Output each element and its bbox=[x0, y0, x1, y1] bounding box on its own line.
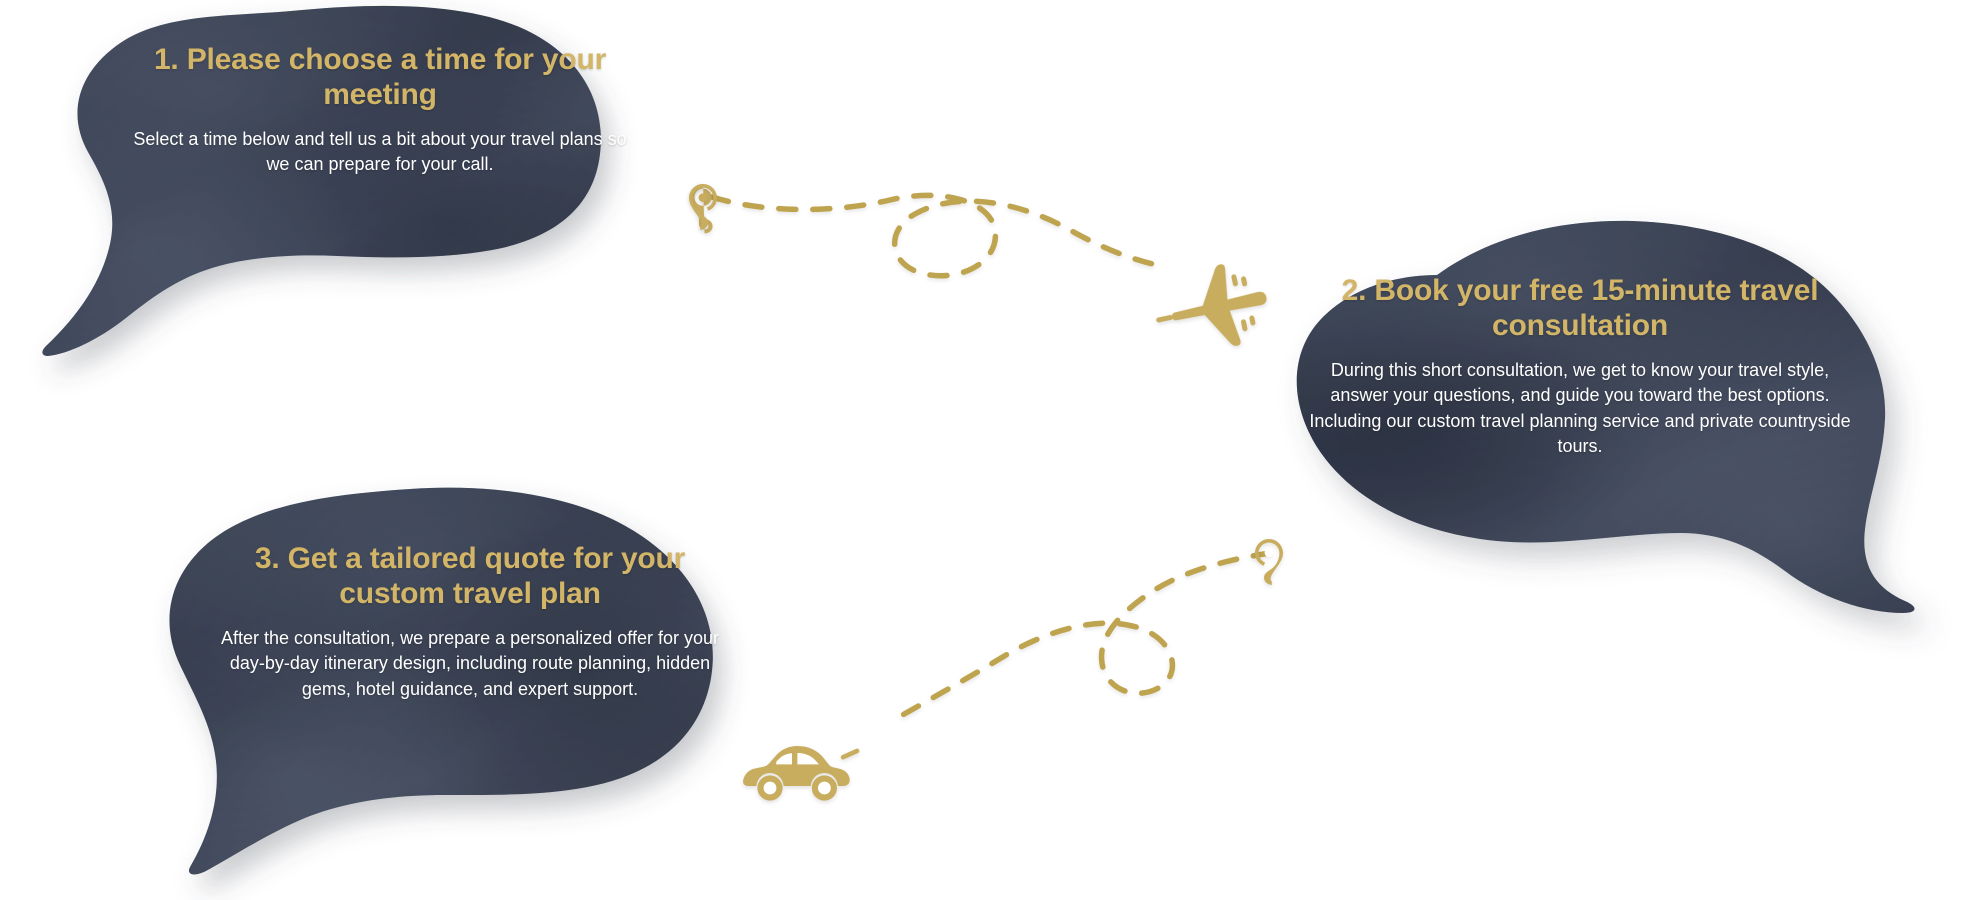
map-pin-icon-upper bbox=[688, 183, 722, 231]
step-3-body: After the consultation, we prepare a per… bbox=[215, 626, 725, 703]
connector-step1-step2 bbox=[690, 170, 1210, 370]
map-pin-icon-lower bbox=[1250, 538, 1284, 586]
step-2-content: 2. Book your free 15-minute travel consu… bbox=[1300, 273, 1860, 460]
step-bubble-3: 3. Get a tailored quote for your custom … bbox=[110, 485, 830, 880]
car-icon bbox=[742, 742, 852, 808]
step-3-title: 3. Get a tailored quote for your custom … bbox=[215, 541, 725, 612]
step-1-title: 1. Please choose a time for your meeting bbox=[120, 42, 640, 113]
dashed-route-upper bbox=[712, 195, 1162, 275]
infographic-canvas: 1. Please choose a time for your meeting… bbox=[0, 0, 1980, 900]
step-2-title: 2. Book your free 15-minute travel consu… bbox=[1300, 273, 1860, 344]
step-2-body: During this short consultation, we get t… bbox=[1300, 358, 1860, 460]
airplane-icon bbox=[1168, 262, 1272, 358]
connector-step2-step3 bbox=[830, 545, 1290, 775]
step-1-content: 1. Please choose a time for your meeting… bbox=[120, 42, 640, 178]
step-bubble-1: 1. Please choose a time for your meeting… bbox=[40, 4, 720, 364]
dashed-route-lower bbox=[892, 553, 1270, 721]
step-3-content: 3. Get a tailored quote for your custom … bbox=[215, 541, 725, 702]
step-bubble-2: 2. Book your free 15-minute travel consu… bbox=[1205, 215, 1980, 615]
step-1-body: Select a time below and tell us a bit ab… bbox=[120, 127, 640, 178]
